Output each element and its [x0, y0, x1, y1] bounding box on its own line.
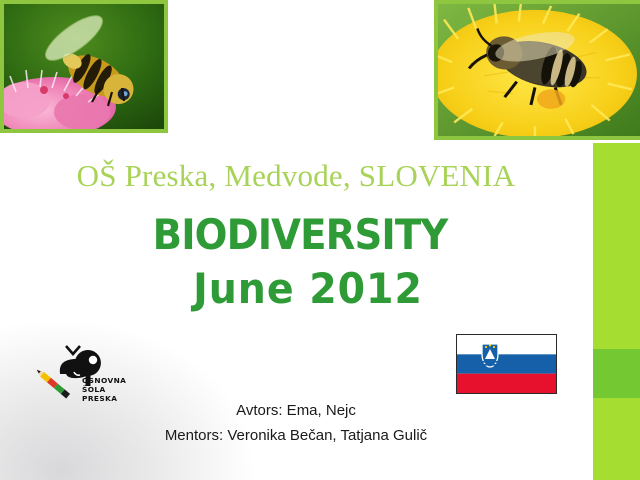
presentation-date: June 2012 — [18, 264, 597, 313]
decorative-green-bar-bottom — [593, 398, 640, 480]
svg-text:OSNOVNA: OSNOVNA — [82, 376, 126, 385]
osnovna-sola-preska-logo: OSNOVNA ŠOLA PRESKA — [36, 334, 136, 408]
svg-text:PRESKA: PRESKA — [82, 394, 117, 403]
decorative-green-bar-middle — [593, 349, 640, 398]
mentors-line: Mentors: Veronika Bečan, Tatjana Gulič — [0, 423, 592, 448]
presentation-slide: OŠ Preska, Medvode, SLOVENIA BIODIVERSIT… — [0, 0, 640, 480]
slovenia-flag — [456, 334, 557, 394]
decorative-green-bar-top — [593, 143, 640, 349]
honeybee-on-pink-flower-photo — [0, 0, 168, 133]
school-location-title: OŠ Preska, Medvode, SLOVENIA — [0, 158, 592, 194]
honeybee-on-yellow-dandelion-photo — [434, 0, 640, 140]
svg-text:ŠOLA: ŠOLA — [82, 385, 106, 394]
page-title: BIODIVERSITY — [24, 210, 576, 259]
